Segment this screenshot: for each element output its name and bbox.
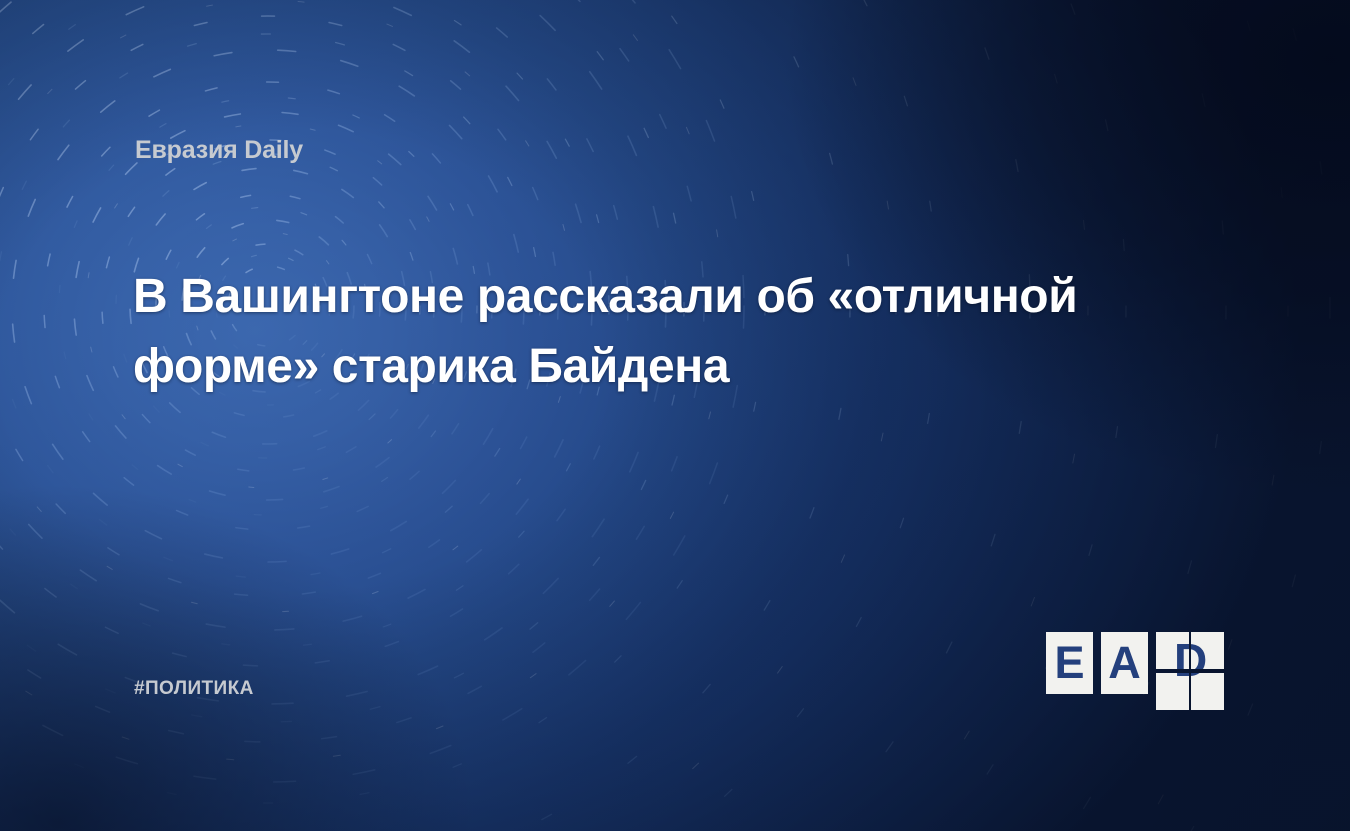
ead-d-quadrant-bottom-right: D — [1191, 673, 1224, 710]
category-hashtag[interactable]: #ПОЛИТИКА — [134, 678, 254, 700]
ead-letter-d-part: D — [1174, 637, 1189, 669]
ead-letter-d-part: D — [1191, 637, 1207, 669]
brand-logo-text: Евразия Daily — [135, 136, 303, 165]
ead-logo[interactable]: E A D D D D — [1046, 632, 1224, 710]
headline-line-2: форме» старика Байдена — [133, 332, 1223, 402]
ead-logo-tile-d: D D D D — [1156, 632, 1224, 710]
ead-logo-tile-a: A — [1101, 632, 1148, 694]
ead-logo-tile-e: E — [1046, 632, 1093, 694]
ead-letter-d-part: D — [1174, 673, 1189, 683]
ead-letter-a: A — [1108, 640, 1141, 685]
ead-d-quadrant-top-left: D — [1156, 632, 1189, 669]
ead-letter-d-part: D — [1191, 673, 1207, 683]
ead-d-quadrant-top-right: D — [1191, 632, 1224, 669]
social-share-card: Евразия Daily В Вашингтоне рассказали об… — [0, 0, 1350, 831]
headline: В Вашингтоне рассказали об «отличной фор… — [133, 262, 1223, 402]
headline-line-1: В Вашингтоне рассказали об «отличной — [133, 262, 1223, 332]
ead-letter-e: E — [1054, 640, 1084, 685]
ead-d-quadrant-bottom-left: D — [1156, 673, 1189, 710]
